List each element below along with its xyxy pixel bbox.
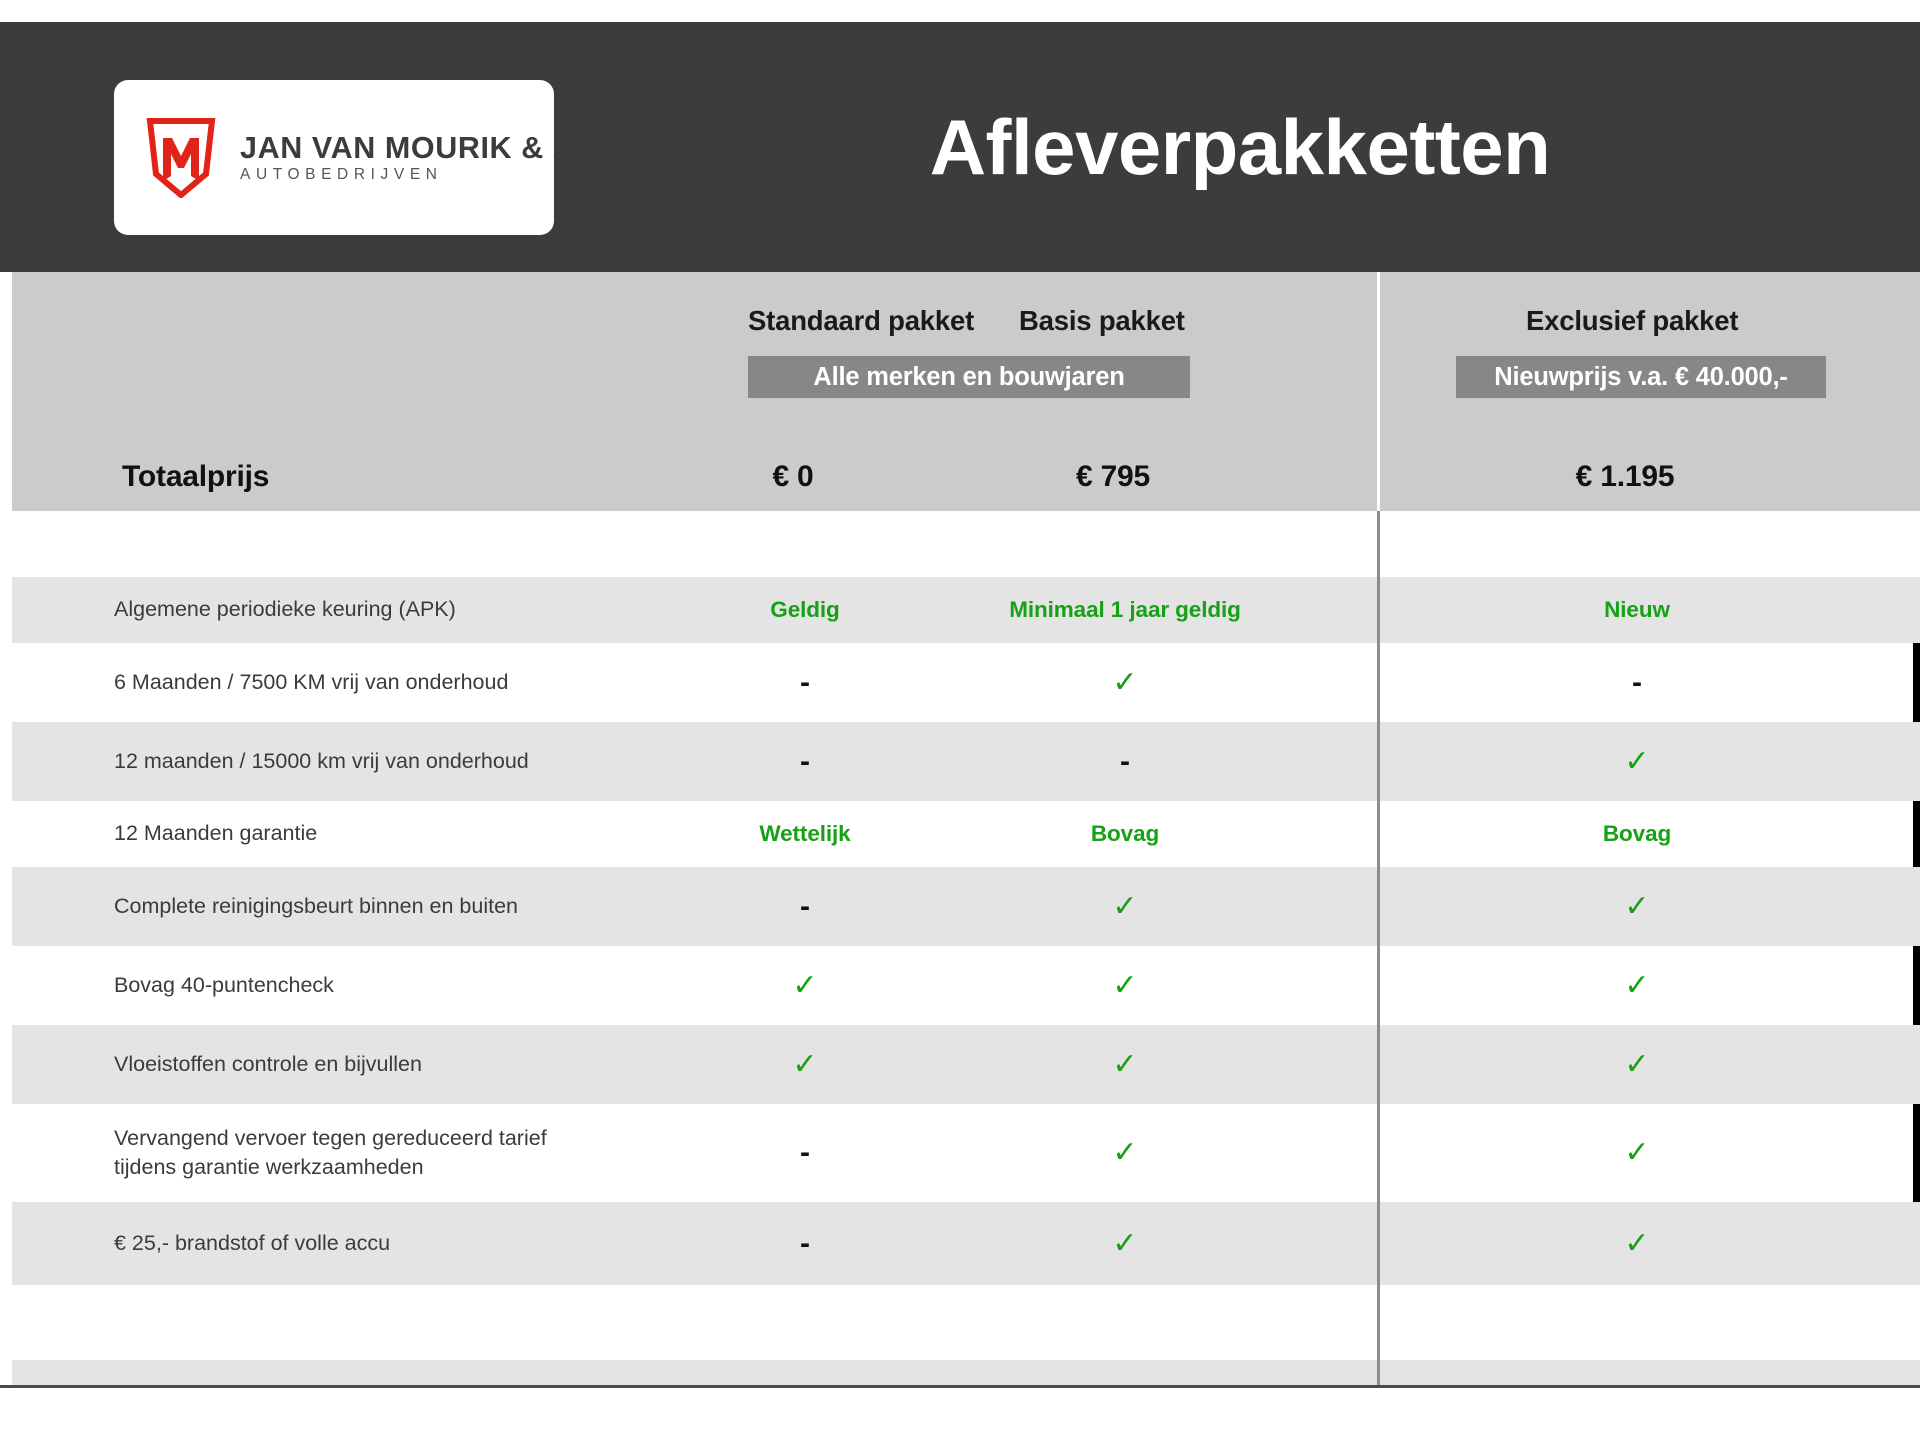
feature-label: Vloeistoffen controle en bijvullen xyxy=(114,1025,754,1104)
cell-basis: ✓ xyxy=(935,1025,1315,1104)
dash-icon: - xyxy=(1120,747,1130,777)
cell-exclusief: ✓ xyxy=(1377,1025,1897,1104)
feature-label: 12 maanden / 15000 km vrij van onderhoud xyxy=(114,722,754,801)
table-row: Vloeistoffen controle en bijvullen✓✓✓ xyxy=(12,1025,1920,1104)
cell-value: Nieuw xyxy=(1604,597,1670,623)
cell-standaard: Wettelijk xyxy=(675,801,935,867)
check-icon: ✓ xyxy=(1624,971,1649,1001)
table-row: Algemene periodieke keuring (APK)GeldigM… xyxy=(12,577,1920,643)
feature-label: Bovag 40-puntencheck xyxy=(114,946,754,1025)
cell-standaard: ✓ xyxy=(675,946,935,1025)
check-icon: ✓ xyxy=(1624,1050,1649,1080)
cell-exclusief: ✓ xyxy=(1377,722,1897,801)
shield-m-logo-icon xyxy=(144,118,218,198)
cell-exclusief: Bovag xyxy=(1377,801,1897,867)
cell-basis: Bovag xyxy=(935,801,1315,867)
cell-value: Bovag xyxy=(1091,821,1159,847)
header-body-spacer xyxy=(12,511,1920,577)
cell-basis: ✓ xyxy=(935,867,1315,946)
feature-label-line: Vervangend vervoer tegen gereduceerd tar… xyxy=(114,1124,754,1153)
column-header-exclusief: Exclusief pakket xyxy=(1526,305,1738,337)
table-row: 6 Maanden / 7500 KM vrij van onderhoud-✓… xyxy=(12,643,1920,722)
logo-wordmark: JAN VAN MOURIK & ZN AUTOBEDRIJVEN xyxy=(240,133,595,183)
cell-exclusief: ✓ xyxy=(1377,867,1897,946)
company-logo-card: JAN VAN MOURIK & ZN AUTOBEDRIJVEN xyxy=(114,80,554,235)
cell-basis: ✓ xyxy=(935,1104,1315,1202)
column-divider xyxy=(1377,1360,1380,1385)
dash-icon: - xyxy=(800,747,810,777)
dash-icon: - xyxy=(800,1138,810,1168)
badge-nieuwprijs: Nieuwprijs v.a. € 40.000,- xyxy=(1456,356,1826,398)
cell-standaard: - xyxy=(675,1104,935,1202)
column-header-standaard: Standaard pakket xyxy=(748,305,974,337)
page-edge-mark xyxy=(1913,1104,1920,1202)
check-icon: ✓ xyxy=(1112,892,1137,922)
cell-exclusief: ✓ xyxy=(1377,946,1897,1025)
cell-standaard: - xyxy=(675,1202,935,1285)
check-icon: ✓ xyxy=(1624,1138,1649,1168)
dash-icon: - xyxy=(800,668,810,698)
cell-value: Wettelijk xyxy=(759,821,850,847)
page-edge-mark xyxy=(1913,801,1920,867)
page-edge-mark xyxy=(1913,946,1920,1025)
check-icon: ✓ xyxy=(792,971,817,1001)
feature-label: 6 Maanden / 7500 KM vrij van onderhoud xyxy=(114,643,754,722)
check-icon: ✓ xyxy=(1112,1050,1137,1080)
cell-exclusief: ✓ xyxy=(1377,1104,1897,1202)
cell-standaard: - xyxy=(675,722,935,801)
afleverpakketten-page: JAN VAN MOURIK & ZN AUTOBEDRIJVEN Afleve… xyxy=(0,0,1920,1440)
feature-label: Vervangend vervoer tegen gereduceerd tar… xyxy=(114,1104,754,1202)
cell-basis: ✓ xyxy=(935,643,1315,722)
total-price-exclusief: € 1.195 xyxy=(1365,460,1885,494)
table-row: € 25,- brandstof of volle accu-✓✓ xyxy=(12,1202,1920,1285)
check-icon: ✓ xyxy=(792,1050,817,1080)
cell-standaard: - xyxy=(675,643,935,722)
check-icon: ✓ xyxy=(1624,892,1649,922)
table-row: Vervangend vervoer tegen gereduceerd tar… xyxy=(12,1104,1920,1202)
cell-value: Bovag xyxy=(1603,821,1671,847)
check-icon: ✓ xyxy=(1112,668,1137,698)
check-icon: ✓ xyxy=(1112,1138,1137,1168)
cell-basis: Minimaal 1 jaar geldig xyxy=(935,577,1315,643)
feature-label: € 25,- brandstof of volle accu xyxy=(114,1202,754,1285)
dash-icon: - xyxy=(800,1229,810,1259)
logo-company-subtitle: AUTOBEDRIJVEN xyxy=(240,167,595,183)
feature-label: Complete reinigingsbeurt binnen en buite… xyxy=(114,867,754,946)
page-header: JAN VAN MOURIK & ZN AUTOBEDRIJVEN Afleve… xyxy=(0,22,1920,272)
check-icon: ✓ xyxy=(1624,747,1649,777)
dash-icon: - xyxy=(1632,668,1642,698)
check-icon: ✓ xyxy=(1112,971,1137,1001)
table-row: Complete reinigingsbeurt binnen en buite… xyxy=(12,867,1920,946)
cell-standaard: ✓ xyxy=(675,1025,935,1104)
column-divider xyxy=(1377,511,1380,577)
page-title: Afleverpakketten xyxy=(560,22,1920,272)
page-edge-mark xyxy=(1913,643,1920,722)
cell-basis: - xyxy=(935,722,1315,801)
column-header-basis: Basis pakket xyxy=(1019,305,1185,337)
cell-basis: ✓ xyxy=(935,1202,1315,1285)
dash-icon: - xyxy=(800,892,810,922)
total-price-label: Totaalprijs xyxy=(122,460,269,494)
table-row: Bovag 40-puntencheck✓✓✓ xyxy=(12,946,1920,1025)
footer-strip xyxy=(12,1360,1920,1385)
feature-label: 12 Maanden garantie xyxy=(114,801,754,867)
cell-value: Minimaal 1 jaar geldig xyxy=(1009,597,1241,623)
feature-label-line: tijdens garantie werkzaamheden xyxy=(114,1153,754,1182)
cell-exclusief: ✓ xyxy=(1377,1202,1897,1285)
cell-basis: ✓ xyxy=(935,946,1315,1025)
logo-company-name: JAN VAN MOURIK & ZN xyxy=(240,133,595,164)
column-divider xyxy=(1377,1285,1380,1360)
check-icon: ✓ xyxy=(1112,1229,1137,1259)
footer-spacer xyxy=(12,1285,1920,1360)
footer-rule xyxy=(0,1385,1920,1388)
check-icon: ✓ xyxy=(1624,1229,1649,1259)
cell-exclusief: Nieuw xyxy=(1377,577,1897,643)
cell-value: Geldig xyxy=(770,597,839,623)
total-price-basis: € 795 xyxy=(923,460,1303,494)
badge-alle-merken-en-bouwjaren: Alle merken en bouwjaren xyxy=(748,356,1190,398)
cell-exclusief: - xyxy=(1377,643,1897,722)
table-row: 12 Maanden garantieWettelijkBovagBovag xyxy=(12,801,1920,867)
cell-standaard: Geldig xyxy=(675,577,935,643)
total-price-standaard: € 0 xyxy=(663,460,923,494)
table-row: 12 maanden / 15000 km vrij van onderhoud… xyxy=(12,722,1920,801)
cell-standaard: - xyxy=(675,867,935,946)
feature-label: Algemene periodieke keuring (APK) xyxy=(114,577,754,643)
